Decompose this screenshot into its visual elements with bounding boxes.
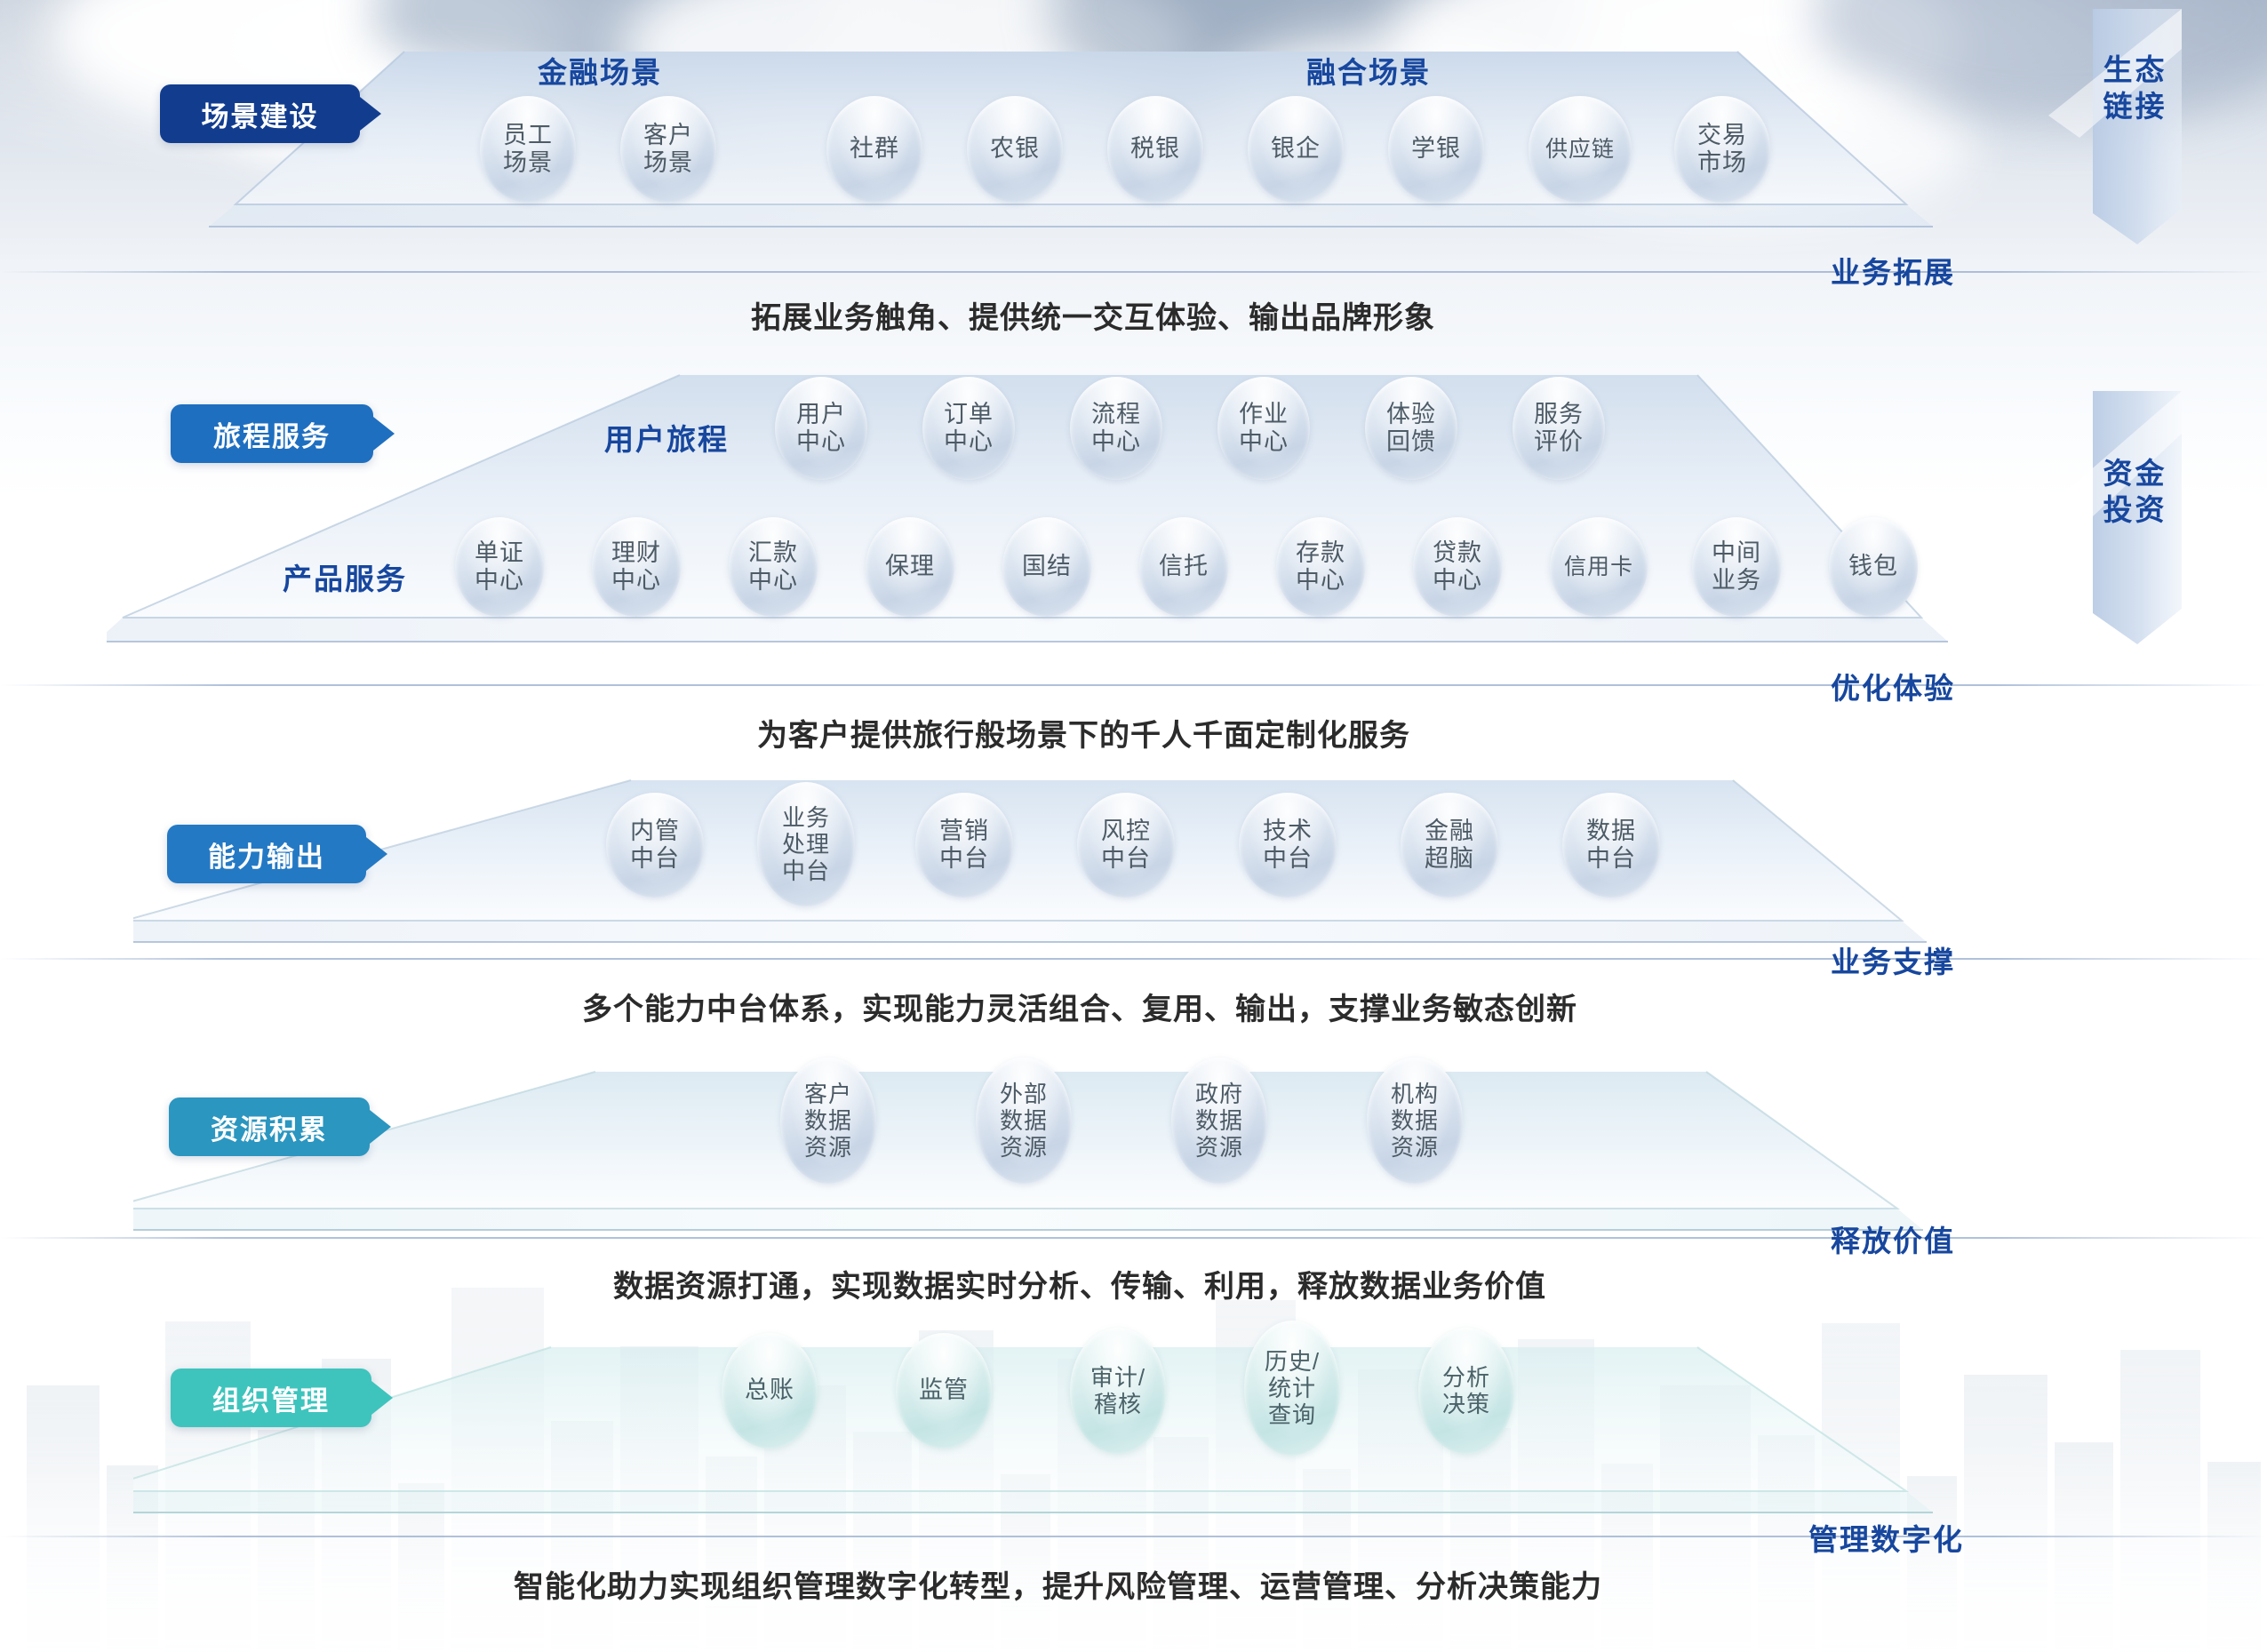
bubble-line: 资源 — [1195, 1134, 1243, 1161]
bubble-capability-1[interactable]: 业务 处理 中台 — [757, 782, 855, 906]
bubble-journey-0[interactable]: 用户 中心 — [775, 377, 867, 480]
bubble-scene-3[interactable]: 农银 — [967, 96, 1063, 203]
bubble-journey-5[interactable]: 服务 评价 — [1513, 377, 1605, 480]
bubble-product-9[interactable]: 中间 业务 — [1692, 517, 1781, 617]
pill-capability-label: 能力输出 — [208, 834, 325, 874]
bubble-line: 中台 — [782, 858, 830, 884]
bubble-line: 资源 — [1391, 1134, 1439, 1161]
bubble-capability-4[interactable]: 技术 中台 — [1239, 793, 1337, 898]
bubble-line: 业务 — [782, 804, 830, 831]
pill-scene[interactable]: 场景建设 — [160, 84, 360, 143]
side-arrow-line: 生态 — [2103, 53, 2167, 86]
bubble-scene-4[interactable]: 税银 — [1107, 96, 1203, 203]
bubble-organization-0[interactable]: 总账 — [722, 1333, 818, 1448]
bubble-line: 交易 — [1697, 122, 1747, 149]
bubble-line: 供应链 — [1545, 137, 1615, 163]
bubble-product-7[interactable]: 贷款 中心 — [1413, 517, 1502, 617]
bubble-line: 客户 — [804, 1081, 852, 1107]
bubble-line: 机构 — [1391, 1081, 1439, 1107]
group-head-fusion-scene: 融合场景 — [1306, 49, 1431, 92]
bubble-line: 国结 — [1022, 553, 1072, 580]
row-label-user-journey: 用户旅程 — [604, 416, 729, 459]
bubble-line: 资源 — [804, 1134, 852, 1161]
bubble-line: 中心 — [475, 567, 524, 595]
bubble-line: 订单 — [944, 401, 994, 428]
bubble-line: 中台 — [1101, 845, 1151, 873]
bubble-line: 学银 — [1411, 135, 1461, 163]
bubble-line: 贷款 — [1433, 539, 1482, 567]
bubble-line: 体验 — [1386, 401, 1436, 428]
caption-journey: 为客户提供旅行般场景下的千人千面定制化服务 — [757, 711, 1410, 754]
bubble-line: 中台 — [939, 845, 989, 873]
bubble-scene-6[interactable]: 学银 — [1388, 96, 1484, 203]
bubble-line: 服务 — [1534, 401, 1584, 428]
bubble-capability-2[interactable]: 营销 中台 — [915, 793, 1013, 898]
bubble-scene-5[interactable]: 银企 — [1248, 96, 1344, 203]
side-arrow-capital: 资金 投资 — [2013, 391, 2257, 684]
bubble-line: 中心 — [748, 567, 798, 595]
bubble-line: 存款 — [1296, 539, 1345, 567]
bubble-line: 数据 — [804, 1107, 852, 1134]
bubble-line: 中心 — [796, 428, 846, 456]
bubble-capability-6[interactable]: 数据 中台 — [1562, 793, 1660, 898]
bubble-line: 中台 — [1586, 845, 1636, 873]
pill-organization-label: 组织管理 — [212, 1378, 330, 1418]
bubble-journey-4[interactable]: 体验 回馈 — [1365, 377, 1457, 480]
bubble-line: 数据 — [1195, 1107, 1243, 1134]
bubble-capability-5[interactable]: 金融 超脑 — [1401, 793, 1498, 898]
bubble-line: 农银 — [990, 135, 1040, 163]
bubble-line: 历史/ — [1265, 1348, 1320, 1375]
pill-journey-label: 旅程服务 — [213, 414, 331, 454]
bubble-organization-3[interactable]: 历史/ 统计 查询 — [1244, 1321, 1340, 1456]
bubble-product-8[interactable]: 信用卡 — [1550, 517, 1648, 617]
bubble-capability-0[interactable]: 内管 中台 — [606, 793, 704, 898]
side-arrow-capital-text: 资金 投资 — [2013, 455, 2257, 529]
bubble-line: 营销 — [939, 818, 989, 845]
row-label-product-service: 产品服务 — [283, 555, 407, 598]
pill-journey[interactable]: 旅程服务 — [171, 404, 373, 463]
bubble-journey-1[interactable]: 订单 中心 — [922, 377, 1015, 480]
bubble-journey-3[interactable]: 作业 中心 — [1217, 377, 1310, 480]
bubble-journey-2[interactable]: 流程 中心 — [1070, 377, 1162, 480]
bubble-line: 数据 — [1000, 1107, 1048, 1134]
bubble-product-5[interactable]: 信托 — [1139, 517, 1228, 617]
bubble-line: 保理 — [885, 553, 935, 580]
pill-resource-label: 资源积累 — [211, 1107, 328, 1147]
bubble-line: 查询 — [1268, 1401, 1316, 1428]
bubble-line: 用户 — [796, 401, 846, 428]
bubble-line: 审计/ — [1090, 1364, 1145, 1391]
bubble-line: 中心 — [944, 428, 994, 456]
bubble-line: 中台 — [630, 845, 680, 873]
pill-resource[interactable]: 资源积累 — [169, 1097, 370, 1156]
bubble-line: 数据 — [1586, 818, 1636, 845]
bubble-product-2[interactable]: 汇款 中心 — [729, 517, 818, 617]
bubble-line: 评价 — [1534, 428, 1584, 456]
side-arrow-line: 链接 — [2103, 90, 2167, 123]
bubble-line: 中台 — [1263, 845, 1313, 873]
bubble-line: 回馈 — [1386, 428, 1436, 456]
caption-capability: 多个能力中台体系，实现能力灵活组合、复用、输出，支撑业务敏态创新 — [582, 985, 1577, 1028]
bubble-line: 决策 — [1442, 1391, 1490, 1417]
bubble-line: 理财 — [611, 539, 661, 567]
bubble-scene-0[interactable]: 员工 场景 — [480, 96, 576, 203]
bubble-line: 社群 — [850, 135, 899, 163]
right-note-capability: 业务支撑 — [1831, 938, 1955, 981]
caption-organization: 智能化助力实现组织管理数字化转型，提升风险管理、运营管理、分析决策能力 — [514, 1562, 1602, 1606]
right-note-journey: 优化体验 — [1831, 665, 1955, 707]
band-resource — [133, 1057, 2008, 1262]
bubble-line: 中心 — [1239, 428, 1289, 456]
side-arrow-line: 资金 — [2103, 457, 2167, 490]
bubble-scene-7[interactable]: 供应链 — [1529, 96, 1632, 203]
bubble-product-6[interactable]: 存款 中心 — [1276, 517, 1365, 617]
caption-scene: 拓展业务触角、提供统一交互体验、输出品牌形象 — [751, 293, 1435, 337]
bubble-capability-3[interactable]: 风控 中台 — [1077, 793, 1175, 898]
bubble-line: 处理 — [782, 831, 830, 858]
bubble-organization-1[interactable]: 监管 — [896, 1333, 992, 1448]
bubble-line: 金融 — [1425, 818, 1474, 845]
bubble-organization-2[interactable]: 审计/ 稽核 — [1070, 1328, 1166, 1454]
bubble-line: 客户 — [643, 122, 693, 149]
bubble-line: 数据 — [1391, 1107, 1439, 1134]
bubble-organization-4[interactable]: 分析 决策 — [1418, 1328, 1514, 1454]
bubble-line: 监管 — [919, 1377, 969, 1404]
bubble-line: 场景 — [643, 149, 693, 177]
bubble-line: 汇款 — [748, 539, 798, 567]
bubble-line: 稽核 — [1094, 1391, 1142, 1417]
bubble-line: 中心 — [1433, 567, 1482, 595]
bubble-line: 业务 — [1712, 567, 1761, 595]
bubble-line: 税银 — [1130, 135, 1180, 163]
bubble-line: 信用卡 — [1564, 555, 1633, 580]
side-arrow-ecosystem: 生态 链接 — [2013, 9, 2257, 284]
bubble-line: 中间 — [1712, 539, 1761, 567]
bubble-line: 钱包 — [1848, 553, 1898, 580]
bubble-line: 中心 — [1091, 428, 1141, 456]
bubble-line: 政府 — [1195, 1081, 1243, 1107]
bubble-line: 风控 — [1101, 818, 1151, 845]
bubble-line: 统计 — [1268, 1375, 1316, 1401]
band-organization — [133, 1333, 2008, 1546]
pill-capability[interactable]: 能力输出 — [167, 825, 366, 883]
pill-organization[interactable]: 组织管理 — [171, 1369, 371, 1427]
side-arrow-line: 投资 — [2103, 493, 2167, 526]
bubble-scene-2[interactable]: 社群 — [826, 96, 922, 203]
right-note-organization: 管理数字化 — [1808, 1516, 1964, 1559]
group-head-financial-scene: 金融场景 — [538, 49, 662, 92]
bubble-product-1[interactable]: 理财 中心 — [592, 517, 681, 617]
caption-resource: 数据资源打通，实现数据实时分析、传输、利用，释放数据业务价值 — [613, 1262, 1546, 1305]
bubble-line: 中心 — [611, 567, 661, 595]
bubble-product-3[interactable]: 保理 — [866, 517, 954, 617]
bubble-line: 场景 — [503, 149, 553, 177]
bubble-line: 单证 — [475, 539, 524, 567]
pill-scene-label: 场景建设 — [202, 94, 319, 134]
bubble-line: 银企 — [1271, 135, 1321, 163]
bubble-product-4[interactable]: 国结 — [1002, 517, 1091, 617]
bubble-resource-2[interactable]: 政府 数据 资源 — [1171, 1057, 1267, 1184]
bubble-product-0[interactable]: 单证 中心 — [455, 517, 544, 617]
bubble-line: 员工 — [503, 122, 553, 149]
bubble-scene-8[interactable]: 交易 市场 — [1674, 96, 1770, 203]
bubble-line: 中心 — [1296, 567, 1345, 595]
bubble-resource-3[interactable]: 机构 数据 资源 — [1367, 1057, 1463, 1184]
bubble-scene-1[interactable]: 客户 场景 — [620, 96, 716, 203]
bubble-line: 外部 — [1000, 1081, 1048, 1107]
bubble-line: 流程 — [1091, 401, 1141, 428]
bubble-product-10[interactable]: 钱包 — [1829, 517, 1918, 617]
bubble-line: 超脑 — [1425, 845, 1474, 873]
bubble-line: 市场 — [1697, 149, 1747, 177]
right-note-resource: 释放价值 — [1831, 1217, 1955, 1260]
side-arrow-ecosystem-text: 生态 链接 — [2013, 52, 2257, 125]
bubble-line: 总账 — [745, 1377, 794, 1404]
bubble-line: 分析 — [1442, 1364, 1490, 1391]
bubble-line: 资源 — [1000, 1134, 1048, 1161]
bubble-line: 作业 — [1239, 401, 1289, 428]
bubble-resource-0[interactable]: 客户 数据 资源 — [780, 1057, 876, 1184]
bubble-line: 内管 — [630, 818, 680, 845]
right-note-scene: 业务拓展 — [1831, 249, 1955, 291]
bubble-line: 技术 — [1263, 818, 1313, 845]
bubble-line: 信托 — [1159, 553, 1209, 580]
bubble-resource-1[interactable]: 外部 数据 资源 — [976, 1057, 1072, 1184]
band-capability — [133, 764, 2008, 986]
